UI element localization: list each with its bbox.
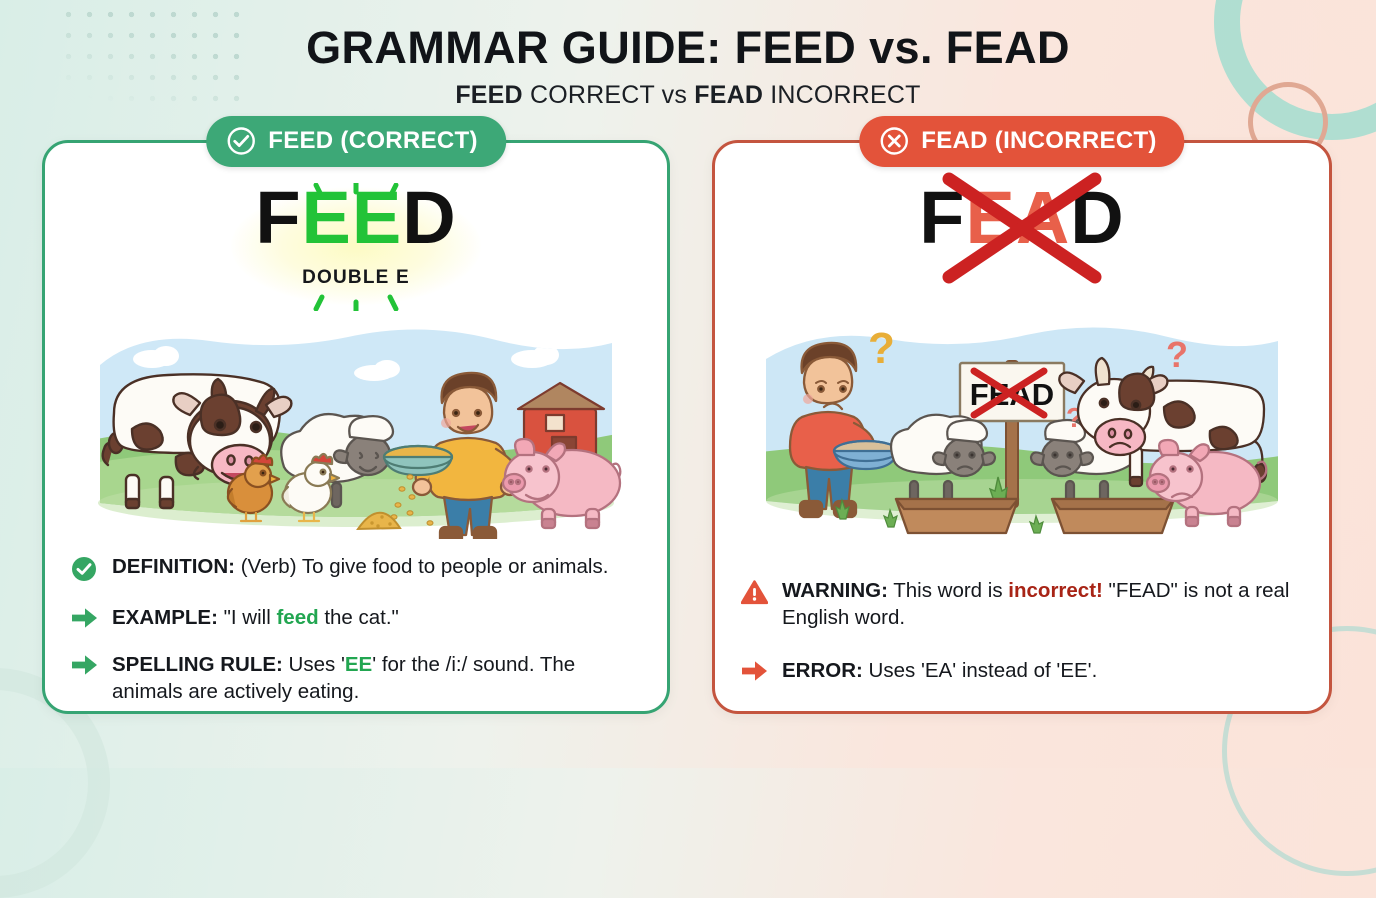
bullet-spelling-rule-before: Uses ' — [283, 653, 345, 676]
subtitle-word-incorrect: FEAD — [694, 81, 763, 109]
card-feed-correct: FEED (CORRECT) FEED DOUBLE E — [42, 140, 670, 714]
bullet-error: ERROR: Uses 'EA' instead of 'EE'. — [741, 657, 1307, 687]
bullet-warning-text: WARNING: This word is incorrect! "FEAD" … — [782, 577, 1307, 632]
bullet-example-before: "I will — [218, 606, 277, 629]
feed-word: FEED — [45, 181, 667, 255]
fead-word-display: FEAD — [715, 181, 1329, 313]
bullet-definition: DEFINITION: (Verb) To give food to peopl… — [71, 553, 645, 587]
subtitle-incorrect-label: INCORRECT — [770, 81, 920, 109]
page-header: GRAMMAR GUIDE: FEED vs. FEAD FEED CORREC… — [0, 0, 1376, 110]
bullet-warning-before: This word is — [888, 579, 1008, 602]
double-e-note: DOUBLE E — [45, 267, 667, 289]
badge-label: FEED (CORRECT) — [268, 127, 478, 155]
big-cross-out-icon — [927, 169, 1117, 287]
comparison-cards: FEED (CORRECT) FEED DOUBLE E — [0, 140, 1376, 700]
bullet-example: EXAMPLE: "I will feed the cat." — [71, 604, 645, 634]
subtitle-word-correct: FEED — [455, 81, 522, 109]
bullet-error-body: Uses 'EA' instead of 'EE'. — [863, 659, 1097, 682]
bullet-warning-emphasis: incorrect! — [1008, 579, 1103, 602]
subtitle-vs: vs — [662, 81, 687, 109]
bullet-definition-label: DEFINITION: — [112, 555, 235, 578]
check-circle-icon — [71, 553, 99, 587]
bullet-spelling-rule-label: SPELLING RULE: — [112, 653, 283, 676]
bullet-example-after: the cat." — [319, 606, 399, 629]
fead-bullets: WARNING: This word is incorrect! "FEAD" … — [715, 577, 1329, 688]
x-circle-icon — [879, 126, 909, 156]
feed-highlight: EE — [302, 176, 403, 259]
bullet-warning: WARNING: This word is incorrect! "FEAD" … — [741, 577, 1307, 632]
bullet-error-text: ERROR: Uses 'EA' instead of 'EE'. — [782, 657, 1097, 687]
feed-word-display: FEED DOUBLE E — [45, 181, 667, 313]
feed-bullets: DEFINITION: (Verb) To give food to peopl… — [45, 553, 667, 706]
svg-text:?: ? — [868, 324, 895, 373]
bullet-definition-body: (Verb) To give food to people or animals… — [235, 555, 608, 578]
arrow-right-icon — [71, 604, 99, 634]
question-mark-icon: ? — [868, 324, 895, 373]
bullet-example-emphasis: feed — [276, 606, 318, 629]
badge-fead-incorrect: FEAD (INCORRECT) — [859, 116, 1184, 167]
page-title: GRAMMAR GUIDE: FEED vs. FEAD — [0, 24, 1376, 72]
arrow-right-icon — [741, 657, 769, 687]
card-fead-incorrect: FEAD (INCORRECT) FEAD — [712, 140, 1332, 714]
feed-prefix: F — [255, 176, 301, 259]
farm-feeding-scene — [80, 317, 632, 539]
badge-label: FEAD (INCORRECT) — [921, 127, 1156, 155]
arrow-right-icon — [71, 651, 99, 706]
subtitle-correct-label: CORRECT — [530, 81, 655, 109]
page-subtitle: FEED CORRECT vs FEAD INCORRECT — [0, 81, 1376, 110]
bullet-definition-text: DEFINITION: (Verb) To give food to peopl… — [112, 553, 608, 587]
bullet-error-label: ERROR: — [782, 659, 863, 682]
bullet-example-text: EXAMPLE: "I will feed the cat." — [112, 604, 399, 634]
bullet-spelling-rule-emphasis: EE — [345, 653, 372, 676]
badge-feed-correct: FEED (CORRECT) — [206, 116, 506, 167]
question-mark-icon: ? — [1166, 334, 1188, 375]
bullet-warning-label: WARNING: — [782, 579, 888, 602]
warning-triangle-icon — [741, 577, 769, 632]
feed-suffix: D — [402, 176, 456, 259]
bullet-spelling-rule-text: SPELLING RULE: Uses 'EE' for the /i:/ so… — [112, 651, 645, 706]
bullet-example-label: EXAMPLE: — [112, 606, 218, 629]
check-circle-icon — [226, 126, 256, 156]
bullet-spelling-rule: SPELLING RULE: Uses 'EE' for the /i:/ so… — [71, 651, 645, 706]
confused-farm-scene: ? FEAD — [748, 305, 1296, 541]
